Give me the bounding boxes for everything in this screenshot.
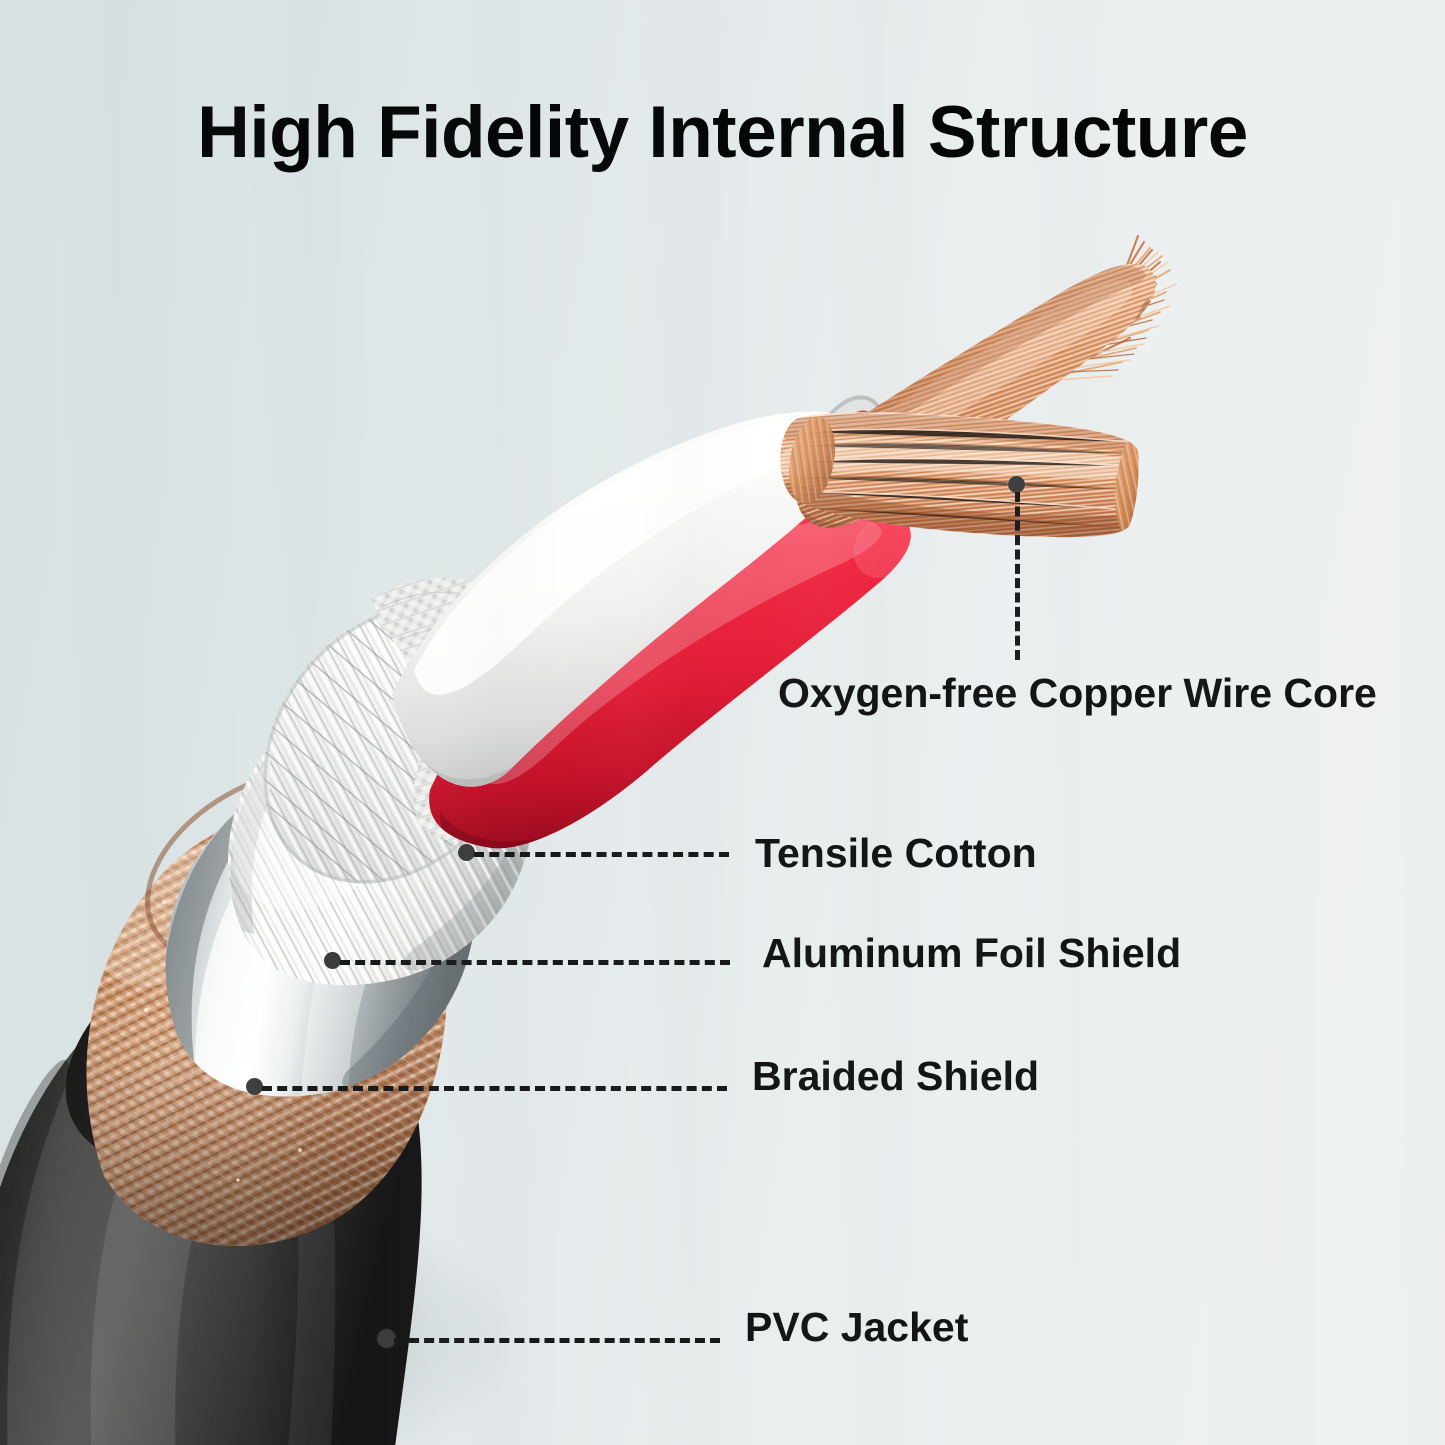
callout-label-tensile-cotton: Tensile Cotton [755,833,1037,874]
callout-label-aluminum-foil-shield: Aluminum Foil Shield [762,933,1181,974]
callout-label-pvc-jacket: PVC Jacket [745,1307,968,1348]
page-title: High Fidelity Internal Structure [0,96,1445,169]
leader-dot-copper-core [1008,476,1025,493]
leader-dash-braided-shield [262,1086,727,1091]
leader-dash-pvc-jacket [394,1338,720,1343]
leader-dash-aluminum-foil-shield [340,960,730,965]
callout-label-braided-shield: Braided Shield [752,1056,1039,1097]
callout-label-copper-core: Oxygen-free Copper Wire Core [778,673,1377,714]
leader-dot-tensile-cotton [458,844,475,861]
cable-cutaway-illustration [0,0,1445,1445]
leader-dot-braided-shield [246,1078,263,1095]
leader-dash-copper-core [1015,492,1020,660]
product-infographic: High Fidelity Internal Structure Oxygen-… [0,0,1445,1445]
leader-dot-pvc-jacket [378,1330,395,1347]
leader-dot-aluminum-foil-shield [324,952,341,969]
leader-dash-tensile-cotton [474,852,729,857]
